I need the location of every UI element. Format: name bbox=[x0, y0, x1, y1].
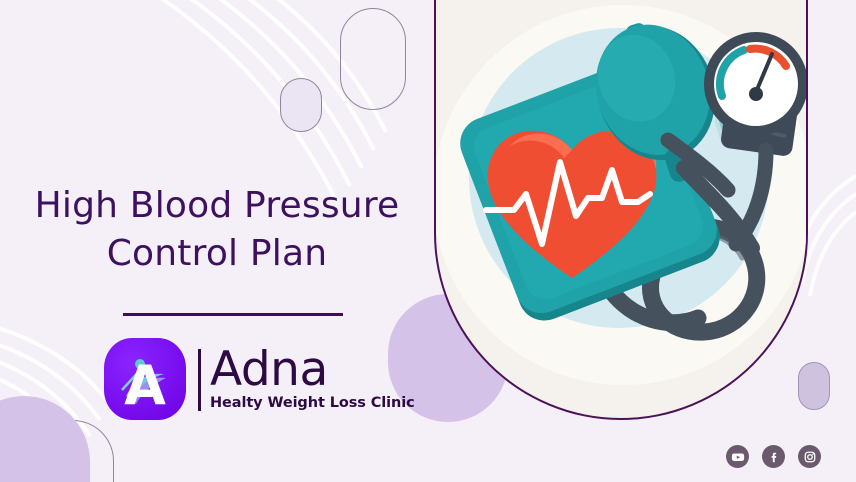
brand-wordmark: Adna Healty Weight Loss Clinic bbox=[198, 347, 415, 411]
lavender-blob-bottom-left bbox=[0, 396, 90, 482]
brand-tagline: Healty Weight Loss Clinic bbox=[210, 395, 415, 411]
social-links bbox=[726, 445, 821, 468]
illustration-panel bbox=[434, 0, 808, 420]
poster-canvas: High Blood Pressure Control Plan A bbox=[0, 0, 856, 482]
capsule-filled-small bbox=[280, 78, 322, 132]
brand-name: Adna bbox=[210, 347, 328, 392]
page-title: High Blood Pressure Control Plan bbox=[0, 182, 434, 277]
capsule-outline-large bbox=[340, 8, 406, 110]
blood-pressure-monitor-illustration bbox=[436, 0, 808, 420]
title-divider bbox=[123, 313, 343, 316]
logo-vertical-rule bbox=[198, 349, 201, 411]
page-title-line-2: Control Plan bbox=[0, 230, 434, 278]
svg-text:A: A bbox=[124, 354, 166, 417]
logo-mark-icon: A bbox=[104, 338, 186, 420]
page-title-line-1: High Blood Pressure bbox=[0, 182, 434, 230]
youtube-icon[interactable] bbox=[726, 445, 749, 468]
facebook-icon[interactable] bbox=[762, 445, 785, 468]
brand-logo[interactable]: A Adna Healty Weight Loss Clinic bbox=[104, 338, 415, 420]
instagram-icon[interactable] bbox=[798, 445, 821, 468]
